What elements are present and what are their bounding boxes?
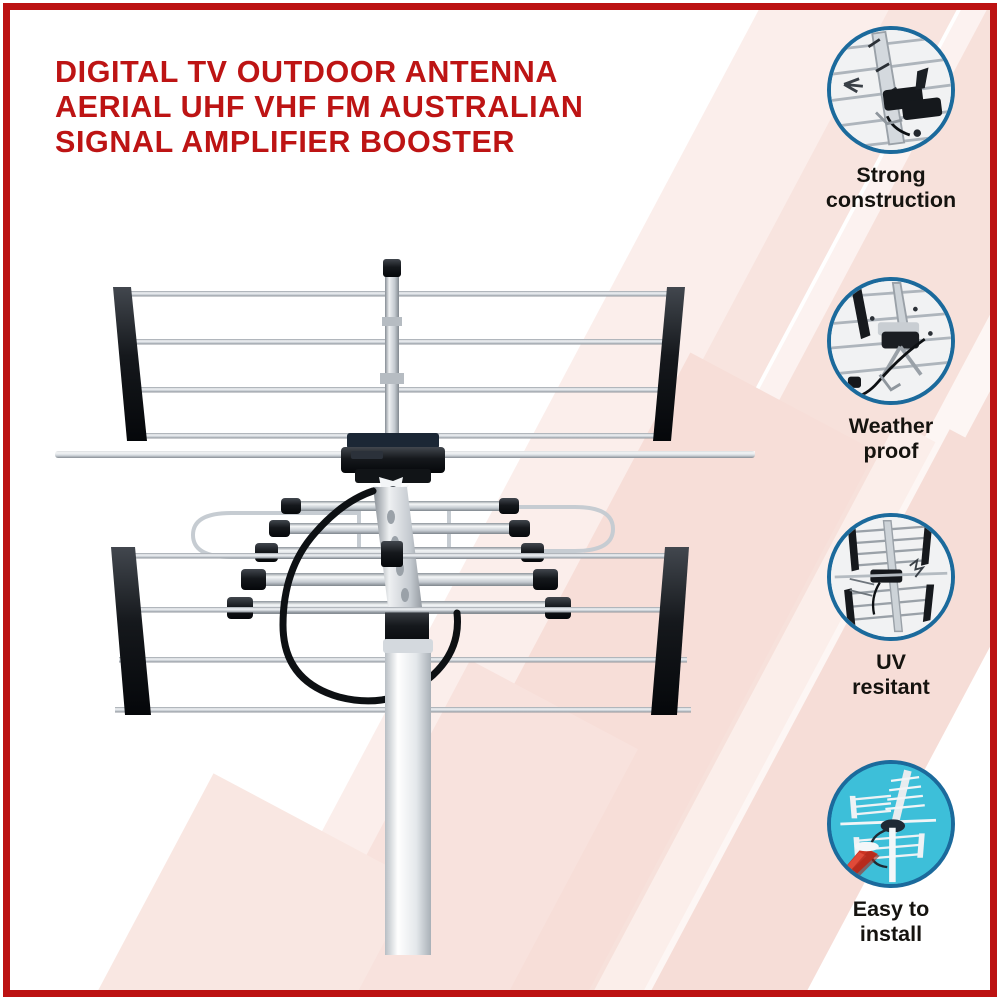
feature-thumbnail-weather-proof[interactable] <box>827 277 955 405</box>
title-line-2: AERIAL UHF VHF FM AUSTRALIAN <box>55 90 695 125</box>
feature-thumbnail-uv-resitant[interactable] <box>827 513 955 641</box>
feature-caption-weather-proof: Weather proof <box>798 414 984 464</box>
image-canvas: DIGITAL TV OUTDOOR ANTENNA AERIAL UHF VH… <box>10 10 990 990</box>
vertical-boom-upper <box>380 259 404 458</box>
product-photo <box>55 255 770 955</box>
page-title: DIGITAL TV OUTDOOR ANTENNA AERIAL UHF VH… <box>55 55 695 160</box>
product-listing-image: DIGITAL TV OUTDOOR ANTENNA AERIAL UHF VH… <box>0 0 1000 1000</box>
feature-strong-construction[interactable]: Strong construction <box>798 26 984 213</box>
feature-caption-strong-construction: Strong construction <box>798 163 984 213</box>
feature-uv-resitant[interactable]: UV resitant <box>798 513 984 700</box>
feature-thumbnail-easy-to-install[interactable] <box>827 760 955 888</box>
title-line-3: SIGNAL AMPLIFIER BOOSTER <box>55 125 695 160</box>
feature-caption-uv-resitant: UV resitant <box>798 650 984 700</box>
feature-easy-to-install[interactable]: Easy to install <box>798 760 984 947</box>
center-boom-plate <box>373 487 429 649</box>
title-line-1: DIGITAL TV OUTDOOR ANTENNA <box>55 55 695 90</box>
feature-thumbnail-strong-construction[interactable] <box>827 26 955 154</box>
coax-cable <box>283 491 458 701</box>
feature-list: Strong construction <box>798 26 984 974</box>
feature-caption-easy-to-install: Easy to install <box>798 897 984 947</box>
feature-weather-proof[interactable]: Weather proof <box>798 277 984 464</box>
